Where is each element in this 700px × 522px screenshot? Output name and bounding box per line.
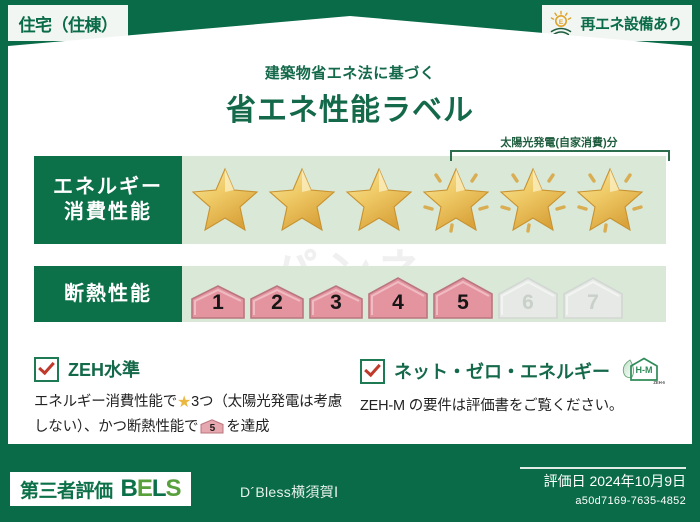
- grade-value: 1: [212, 291, 224, 315]
- insulation-grade-7: 7: [562, 276, 624, 320]
- footer: 第三者評価 BELS D´Bless横須賀Ⅰ 評価日 2024年10月9日 a5…: [0, 464, 700, 522]
- star-icon: [498, 165, 568, 235]
- solar-sun-icon: E: [548, 10, 574, 36]
- star-icon: [190, 165, 260, 235]
- inline-grade-badge: 5: [200, 419, 224, 434]
- insulation-label-text: 断熱性能: [64, 282, 152, 307]
- star-4: [421, 165, 491, 235]
- star-3: [344, 165, 414, 235]
- star-icon: [421, 165, 491, 235]
- energy-row-label: エネルギー 消費性能: [34, 156, 182, 244]
- zeh-m-house-icon: H-M ZEH-M: [619, 356, 665, 386]
- grade-value: 2: [271, 291, 283, 315]
- insulation-grade-6: 6: [497, 276, 559, 320]
- zeh-description: エネルギー消費性能で★3つ（太陽光発電は考慮しない）、かつ断熱性能で 5 を達成: [34, 391, 344, 438]
- building-type-chip: 住宅（住棟）: [8, 5, 128, 41]
- energy-label-line2: 消費性能: [64, 200, 152, 225]
- energy-row-body: 太陽光発電(自家消費)分: [182, 156, 666, 244]
- star-1: [190, 165, 260, 235]
- grade-value: 4: [392, 291, 404, 315]
- evaluation-date: 評価日 2024年10月9日: [544, 471, 686, 491]
- inline-grade-value: 5: [200, 421, 224, 437]
- zeh-m-logo-caption: ZEH-M: [653, 380, 665, 385]
- renewable-badge-label: 再エネ設備あり: [580, 13, 682, 34]
- solar-contribution-note: 太陽光発電(自家消費)分: [449, 134, 669, 150]
- bels-logo: BELS: [121, 475, 181, 503]
- insulation-grade-5: 5: [432, 276, 494, 320]
- star-5: [498, 165, 568, 235]
- insulation-grade-3: 3: [308, 284, 364, 320]
- star-icon: [267, 165, 337, 235]
- evaluation-id: a50d7169-7635-4852: [544, 495, 686, 507]
- net-zero-energy-block: ネット・ゼロ・エネルギー H-M ZEH-M ZEH-M の要件は評価書をご覧く…: [360, 356, 670, 417]
- zeh-standard-block: ZEH水準 エネルギー消費性能で★3つ（太陽光発電は考慮しない）、かつ断熱性能で…: [34, 356, 344, 438]
- building-type-label: 住宅（住棟）: [19, 11, 118, 36]
- insulation-row-label: 断熱性能: [34, 266, 182, 322]
- grade-value: 7: [587, 291, 599, 315]
- zeh-desc-part1: エネルギー消費性能で: [34, 394, 177, 410]
- grade-value: 5: [457, 291, 469, 315]
- third-party-label: 第三者評価: [20, 476, 113, 503]
- grade-value: 3: [330, 291, 342, 315]
- insulation-grade-1: 1: [190, 284, 246, 320]
- star-rating: [190, 156, 645, 244]
- star-icon: [344, 165, 414, 235]
- zeh-check-head: ZEH水準: [34, 356, 344, 382]
- nze-description: ZEH-M の要件は評価書をご覧ください。: [360, 395, 670, 417]
- star-2: [267, 165, 337, 235]
- star-6: [575, 165, 645, 235]
- insulation-row-body: 1234567: [182, 266, 666, 322]
- footer-meta: 評価日 2024年10月9日 a50d7169-7635-4852: [544, 471, 686, 507]
- label-subtitle: 建築物省エネ法に基づく: [0, 62, 700, 83]
- nze-title: ネット・ゼロ・エネルギー: [394, 358, 610, 384]
- grade-value: 6: [522, 291, 534, 315]
- svg-text:E: E: [559, 19, 564, 26]
- zeh-m-logo-text: H-M: [636, 365, 653, 375]
- building-name: D´Bless横須賀Ⅰ: [240, 482, 338, 502]
- bels-third-party-chip: 第三者評価 BELS: [10, 472, 191, 506]
- insulation-grade-4: 4: [367, 276, 429, 320]
- page-title: 省エネ性能ラベル: [0, 85, 700, 129]
- energy-performance-row: エネルギー 消費性能 太陽光発電(自家消費)分: [34, 156, 666, 244]
- zeh-desc-part3: を達成: [226, 419, 269, 435]
- insulation-performance-row: 断熱性能 1234567: [34, 266, 666, 322]
- nze-check-head: ネット・ゼロ・エネルギー H-M ZEH-M: [360, 356, 670, 386]
- footer-divider: [520, 467, 686, 469]
- bels-energy-label: 住宅（住棟） E 再エネ設備あり 建築物省エネ法に基づく 省エネ性能ラベル パ: [0, 0, 700, 522]
- inline-star-icon: ★: [177, 394, 191, 411]
- zeh-title: ZEH水準: [68, 356, 140, 382]
- zeh-checkbox-checked-icon: [34, 357, 59, 382]
- energy-label-line1: エネルギー: [53, 175, 163, 200]
- insulation-grade-2: 2: [249, 284, 305, 320]
- nze-checkbox-checked-icon: [360, 359, 385, 384]
- insulation-grade-scale: 1234567: [190, 268, 624, 320]
- star-icon: [575, 165, 645, 235]
